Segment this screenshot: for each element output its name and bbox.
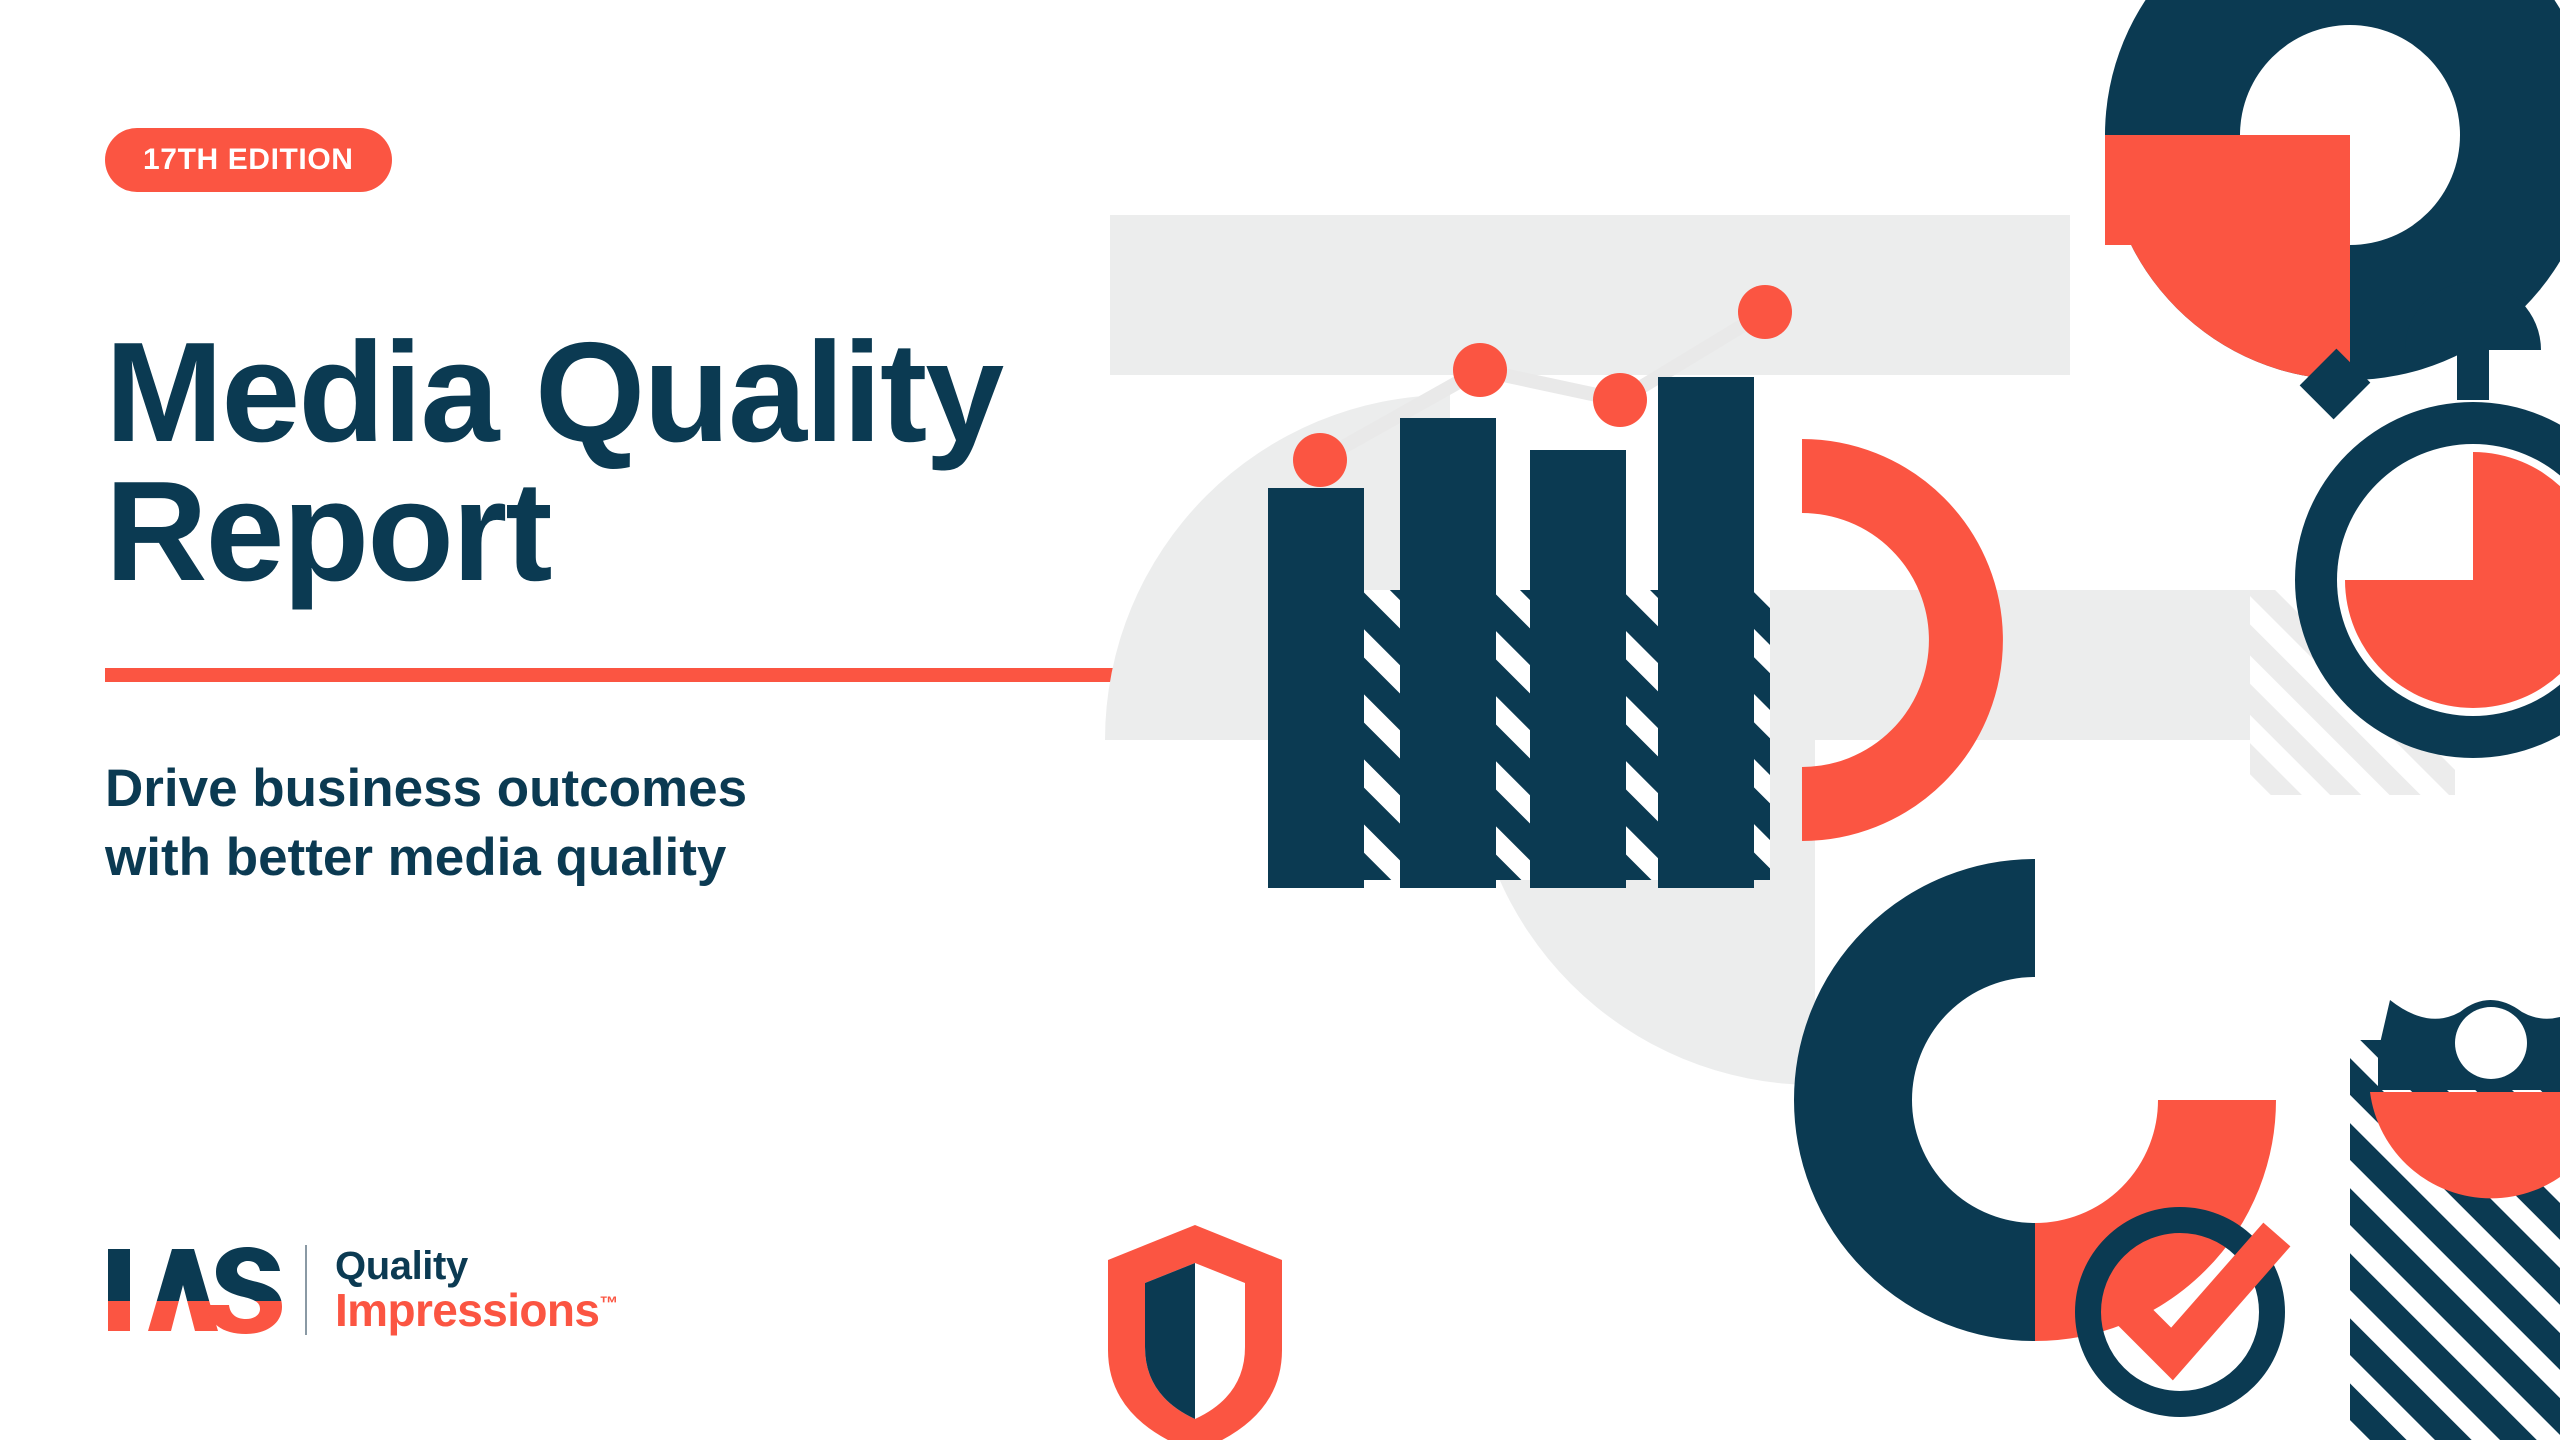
shield-icon bbox=[1108, 1225, 1282, 1440]
data-point-3 bbox=[1593, 373, 1647, 427]
page-tagline: Drive business outcomeswith better media… bbox=[105, 755, 1085, 893]
ias-wordmark-icon bbox=[108, 1245, 283, 1335]
bar-2 bbox=[1400, 418, 1496, 888]
page-title: Media QualityReport bbox=[105, 323, 1065, 601]
data-point-1 bbox=[1293, 433, 1347, 487]
logo-product-line2: Impressions™ bbox=[335, 1287, 618, 1334]
bar-1 bbox=[1268, 488, 1364, 888]
edition-badge: 17TH EDITION bbox=[105, 128, 392, 192]
report-cover: 17TH EDITION Media QualityReport Drive b… bbox=[0, 0, 2560, 1440]
ias-logo: Quality Impressions™ bbox=[108, 1245, 618, 1335]
page-title-line2: Report bbox=[105, 452, 551, 611]
logo-product-line2-text: Impressions bbox=[335, 1284, 599, 1336]
logo-product-line1: Quality bbox=[335, 1246, 618, 1287]
cover-text-column: 17TH EDITION Media QualityReport Drive b… bbox=[0, 0, 1100, 1440]
edition-badge-label: 17TH EDITION bbox=[143, 143, 354, 177]
logo-product-name: Quality Impressions™ bbox=[335, 1246, 618, 1334]
bar-3 bbox=[1530, 450, 1626, 888]
page-title-line1: Media Quality bbox=[105, 313, 1002, 472]
artwork-composition bbox=[1060, 0, 2560, 1440]
cover-artwork bbox=[1060, 0, 2560, 1440]
bar-chart bbox=[1268, 285, 1792, 888]
gray-block-upper bbox=[1110, 215, 2070, 375]
page-tagline-line1: Drive business outcomes bbox=[105, 759, 747, 818]
logo-trademark: ™ bbox=[599, 1294, 617, 1315]
page-tagline-line2: with better media quality bbox=[105, 828, 726, 887]
bar-4 bbox=[1658, 377, 1754, 888]
data-point-4 bbox=[1738, 285, 1792, 339]
data-point-2 bbox=[1453, 343, 1507, 397]
logo-divider bbox=[305, 1245, 307, 1335]
